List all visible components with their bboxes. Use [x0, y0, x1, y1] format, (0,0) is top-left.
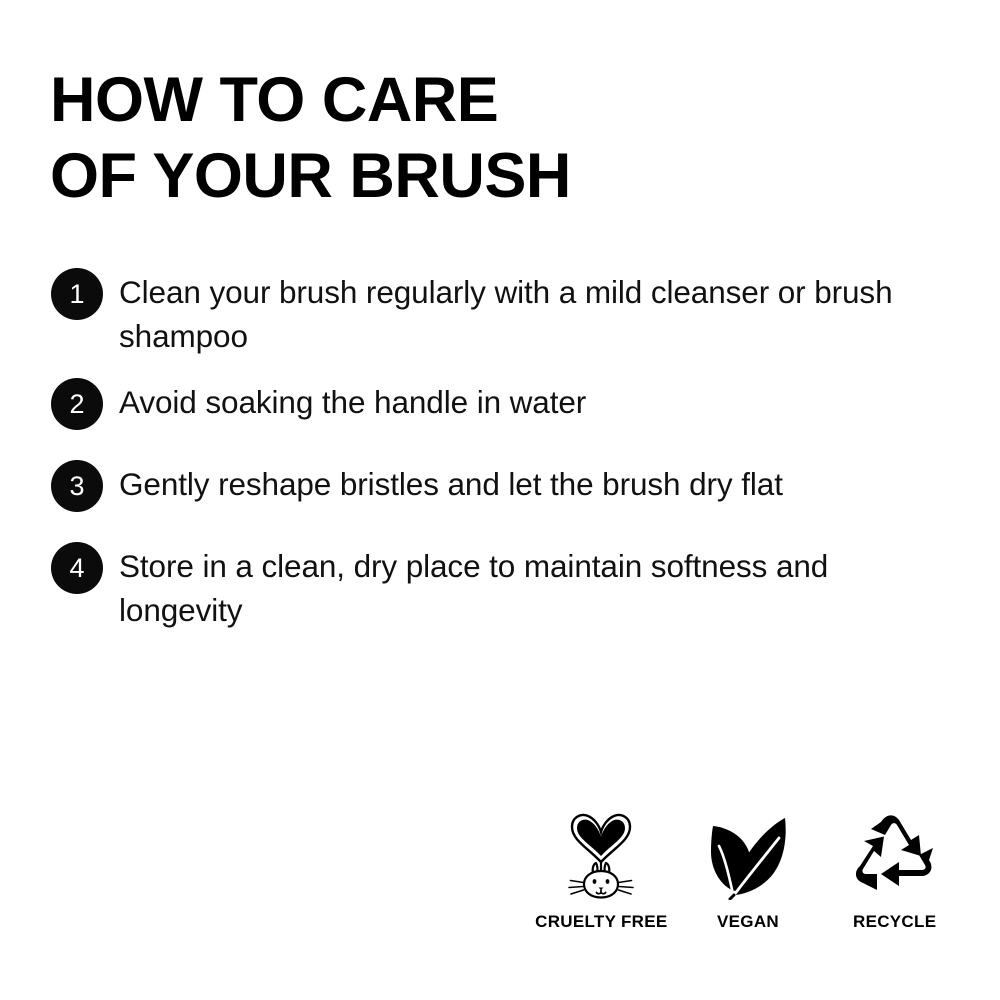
list-item: 1 Clean your brush regularly with a mild… — [51, 268, 951, 358]
step-text: Store in a clean, dry place to maintain … — [119, 542, 909, 632]
step-number-badge: 2 — [51, 378, 103, 430]
care-instructions-card: HOW TO CARE OF YOUR BRUSH 1 Clean your b… — [0, 0, 1000, 1000]
seal-label: RECYCLE — [853, 912, 936, 932]
seal-cruelty-free: CRUELTY FREE — [528, 808, 675, 932]
recycle-icon — [849, 808, 941, 900]
list-item: 4 Store in a clean, dry place to maintai… — [51, 542, 951, 632]
step-number-badge: 1 — [51, 268, 103, 320]
seal-recycle: RECYCLE — [821, 808, 968, 932]
step-text: Avoid soaking the handle in water — [119, 378, 586, 424]
list-item: 2 Avoid soaking the handle in water — [51, 378, 951, 430]
seal-label: VEGAN — [717, 912, 779, 932]
title-line-1: HOW TO CARE — [50, 62, 930, 138]
bunny-heart-icon — [558, 808, 644, 900]
list-item: 3 Gently reshape bristles and let the br… — [51, 460, 951, 512]
step-number-badge: 4 — [51, 542, 103, 594]
page-title: HOW TO CARE OF YOUR BRUSH — [50, 62, 930, 214]
certification-seals: CRUELTY FREE VEGAN — [528, 808, 968, 932]
leaves-icon — [703, 808, 793, 900]
seal-vegan: VEGAN — [675, 808, 822, 932]
step-text: Clean your brush regularly with a mild c… — [119, 268, 909, 358]
care-steps-list: 1 Clean your brush regularly with a mild… — [51, 268, 951, 652]
step-text: Gently reshape bristles and let the brus… — [119, 460, 783, 506]
seal-label: CRUELTY FREE — [535, 912, 667, 932]
title-line-2: OF YOUR BRUSH — [50, 138, 930, 214]
step-number-badge: 3 — [51, 460, 103, 512]
